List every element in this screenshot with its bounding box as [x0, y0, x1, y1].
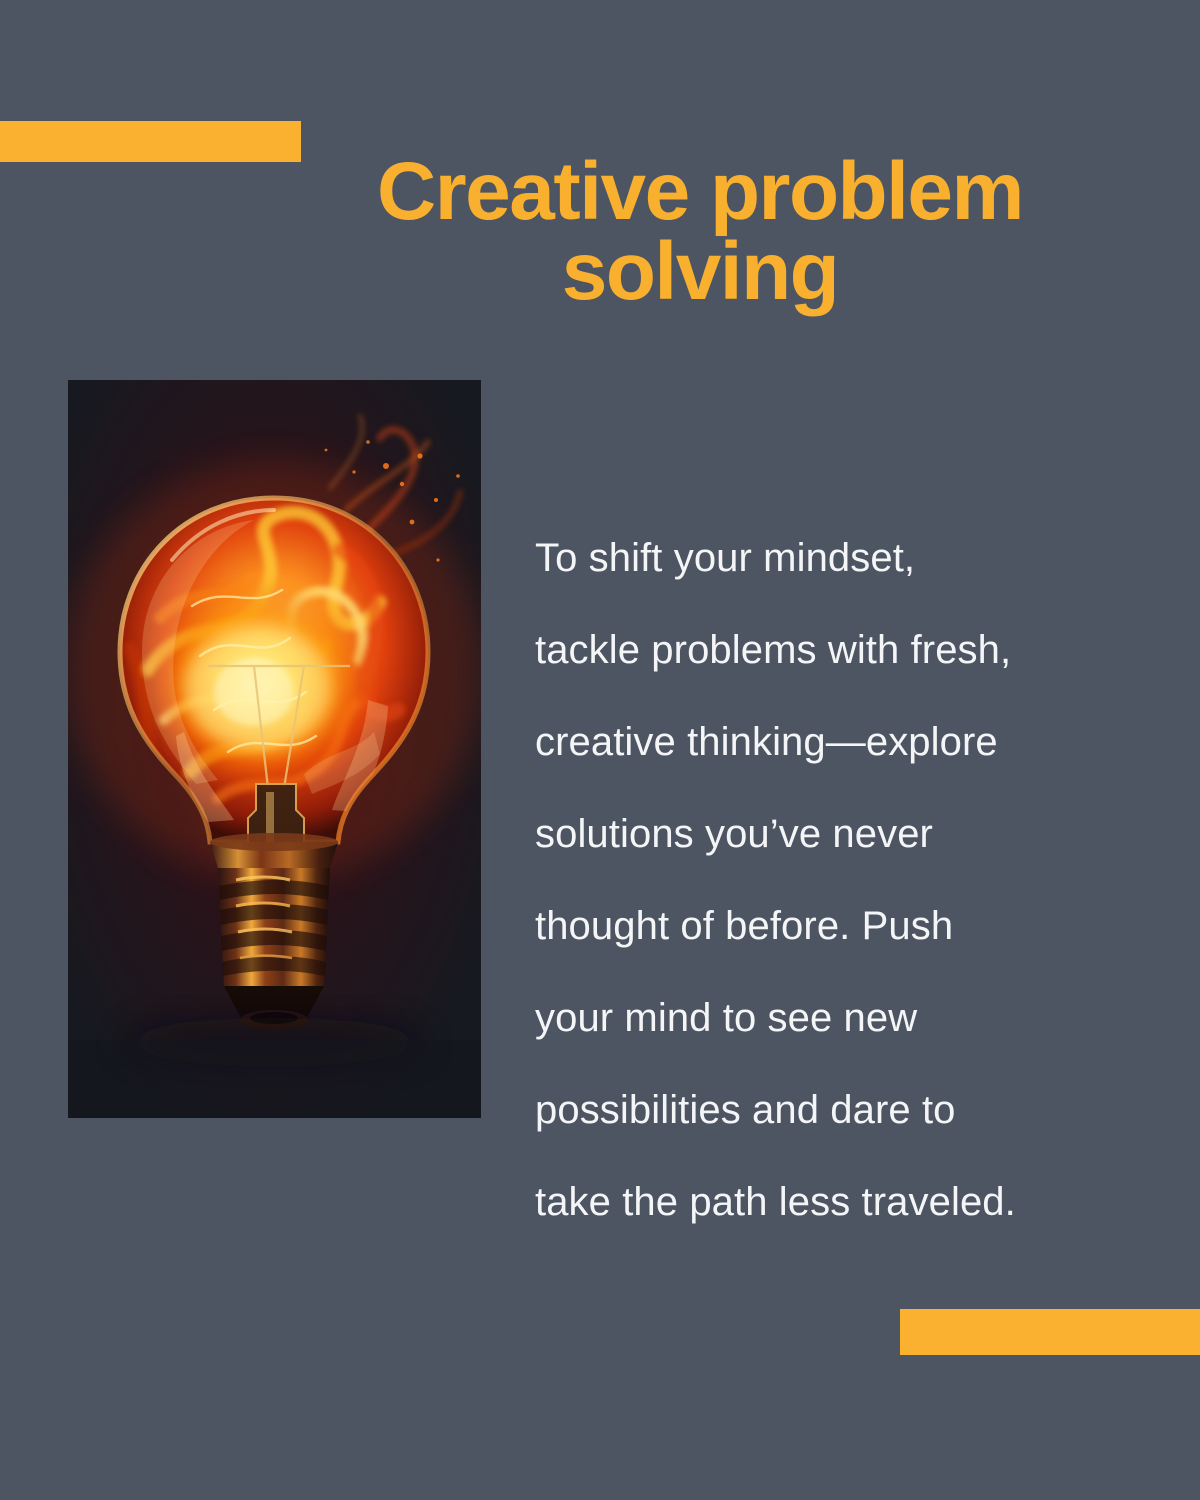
body-line: To shift your mindset, [535, 512, 1115, 604]
body-line: your mind to see new [535, 972, 1115, 1064]
body-line: possibilities and dare to [535, 1064, 1115, 1156]
body-line: take the path less traveled. [535, 1156, 1115, 1248]
page-title-line-1: Creative problem [300, 152, 1100, 232]
accent-bar-bottom-right [900, 1309, 1200, 1355]
body-line: thought of before. Push [535, 880, 1115, 972]
body-paragraph: To shift your mindset, tackle problems w… [535, 512, 1115, 1248]
accent-bar-top-left [0, 121, 301, 162]
flaming-lightbulb-illustration [68, 380, 481, 1118]
page-title-line-2: solving [300, 232, 1100, 312]
body-line: creative thinking—explore [535, 696, 1115, 788]
page-title: Creative problem solving [300, 152, 1100, 313]
poster-canvas: Creative problem solving [0, 0, 1200, 1500]
lightbulb-image [68, 380, 481, 1118]
body-line: tackle problems with fresh, [535, 604, 1115, 696]
body-line: solutions you’ve never [535, 788, 1115, 880]
